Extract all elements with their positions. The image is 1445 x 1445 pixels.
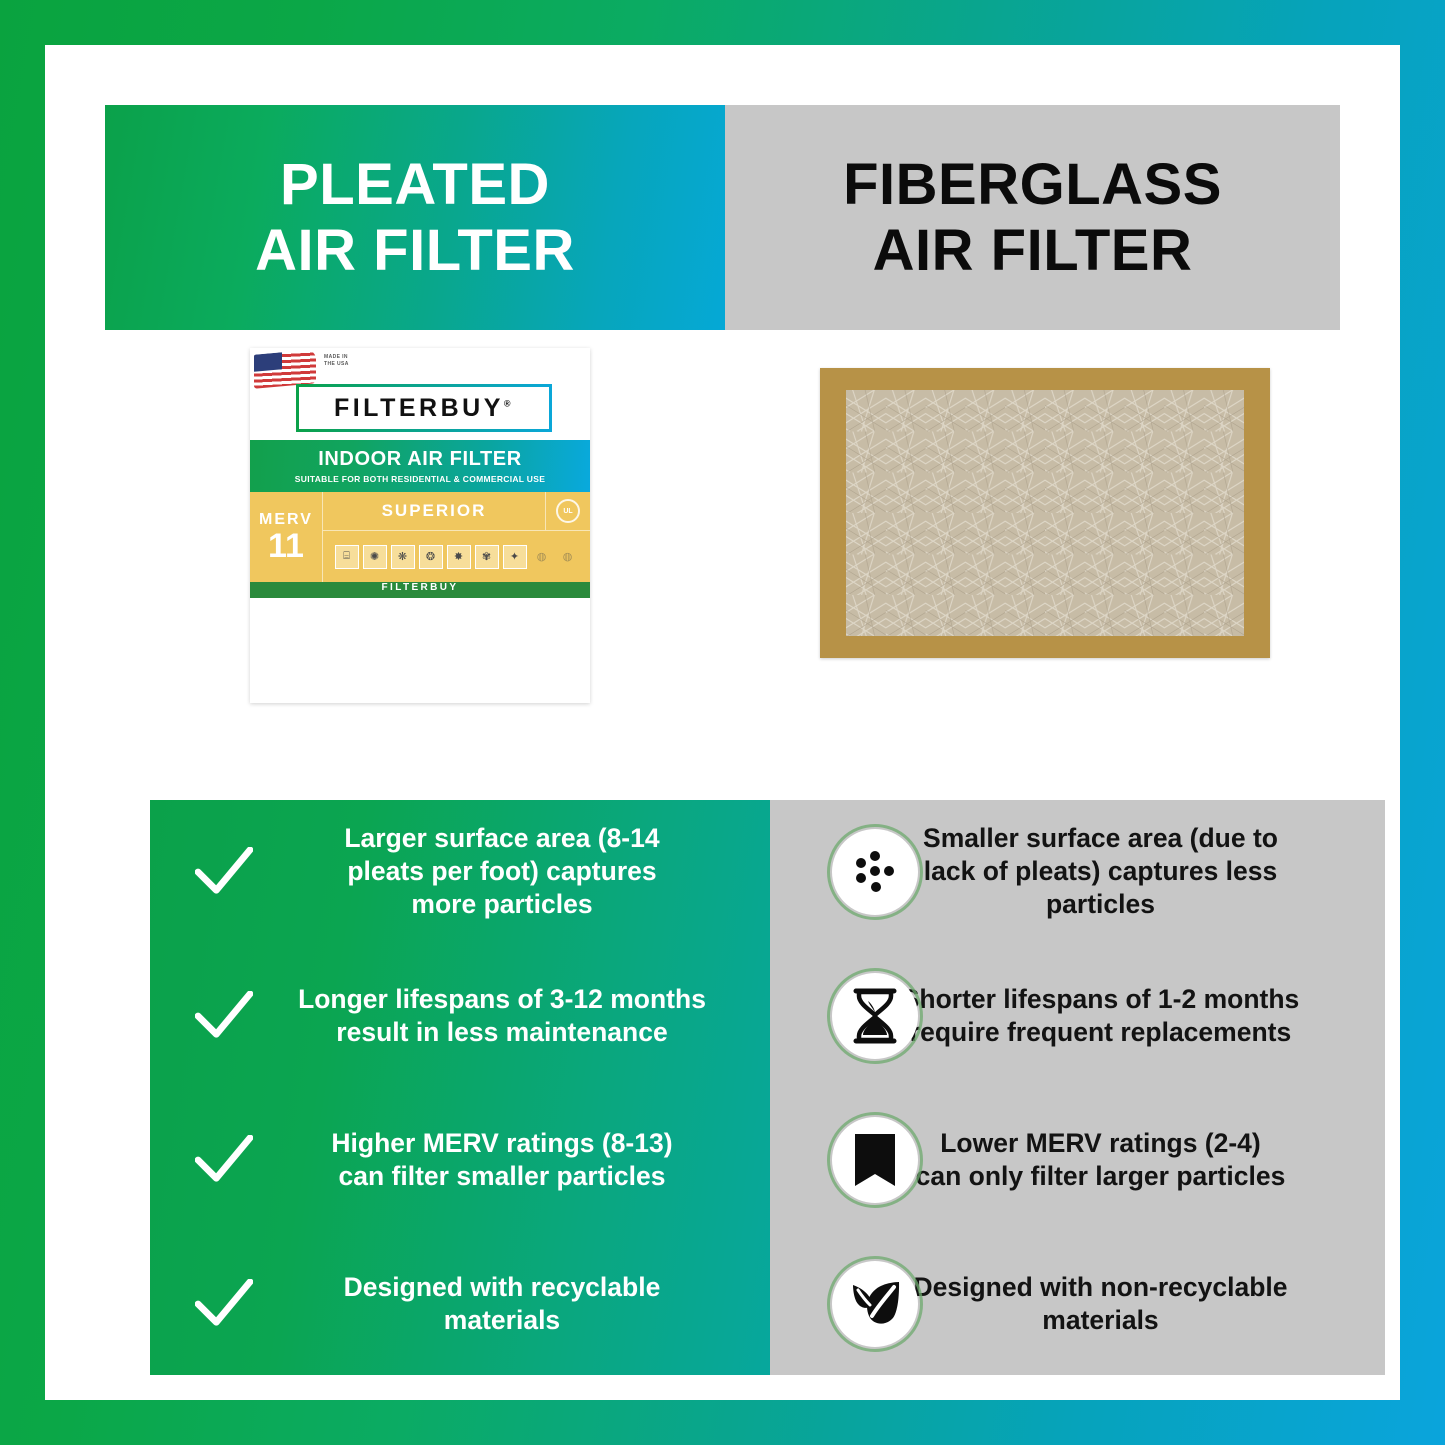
check-icon <box>188 847 260 897</box>
check-icon <box>188 991 260 1041</box>
merv-block: MERV 11 <box>250 492 323 582</box>
feature-icon-strip: ⌸ ✺ ❋ ❂ ✸ ✾ ✦ ◍ ◍ <box>323 531 590 582</box>
brand-registered-mark: ® <box>504 398 514 408</box>
fiberglass-product-cell <box>725 330 1340 750</box>
row-right-text-3: Lower MERV ratings (2-4) can only filter… <box>856 1127 1345 1193</box>
box-pleat-window: FILTERBUY <box>250 582 590 598</box>
box-spec-band: MERV 11 SUPERIOR UL ⌸ <box>250 492 590 582</box>
check-icon <box>188 1279 260 1329</box>
mold-icon: ❂ <box>419 545 443 569</box>
table-row: Larger surface area (8-14 pleats per foo… <box>150 800 1385 943</box>
row-left-text-2: Longer lifespans of 3-12 months result i… <box>260 983 752 1049</box>
table-row: Designed with recyclable materials Desig… <box>150 1232 1385 1375</box>
ghost-icon-1: ◍ <box>531 546 553 568</box>
table-row: Longer lifespans of 3-12 months result i… <box>150 944 1385 1087</box>
header-band: PLEATED AIR FILTER FIBERGLASS AIR FILTER <box>105 105 1340 330</box>
pollen-icon: ✺ <box>363 545 387 569</box>
header-fiberglass-title: FIBERGLASS AIR FILTER <box>843 152 1222 283</box>
smoke-icon: ✸ <box>447 545 471 569</box>
product-image-section: MADE IN THE USA FILTERBUY® INDOOR AIR FI… <box>105 330 1340 750</box>
fiberglass-filter-image <box>820 368 1270 658</box>
pleated-product-cell: MADE IN THE USA FILTERBUY® INDOOR AIR FI… <box>105 330 725 750</box>
leaf-icon <box>827 1256 923 1352</box>
row-left-4: Designed with recyclable materials <box>150 1232 770 1375</box>
row-right-text-2: Shorter lifespans of 1-2 months require … <box>856 983 1345 1049</box>
filterbuy-logo-text: FILTERBUY® <box>334 394 514 423</box>
brand-word: FILTERBUY <box>334 394 504 422</box>
made-in-usa-label: MADE IN THE USA <box>324 354 349 368</box>
header-pleated: PLEATED AIR FILTER <box>105 105 725 330</box>
dust-icon: ⌸ <box>335 545 359 569</box>
box-spec-right: SUPERIOR UL ⌸ ✺ ❋ ❂ ✸ <box>323 492 590 582</box>
bookmark-icon <box>827 1112 923 1208</box>
filterbuy-logo-frame: FILTERBUY® <box>296 384 552 432</box>
table-row: Higher MERV ratings (8-13) can filter sm… <box>150 1088 1385 1231</box>
box-footer-brand: FILTERBUY <box>382 582 459 598</box>
infographic-card: PLEATED AIR FILTER FIBERGLASS AIR FILTER… <box>45 45 1400 1400</box>
header-pleated-title: PLEATED AIR FILTER <box>255 152 575 283</box>
filterbuy-box-image: MADE IN THE USA FILTERBUY® INDOOR AIR FI… <box>250 348 590 703</box>
us-flag-icon <box>254 349 316 388</box>
ghost-icon-2: ◍ <box>557 546 579 568</box>
ul-mark-icon: UL <box>556 499 580 523</box>
fiberglass-media <box>846 390 1244 636</box>
outer-gradient-frame: PLEATED AIR FILTER FIBERGLASS AIR FILTER… <box>0 0 1445 1445</box>
bacteria-icon: ❋ <box>391 545 415 569</box>
tier-row: SUPERIOR UL <box>323 492 590 531</box>
allergen-icon: ✦ <box>503 545 527 569</box>
row-left-text-4: Designed with recyclable materials <box>260 1271 752 1337</box>
row-left-3: Higher MERV ratings (8-13) can filter sm… <box>150 1088 770 1231</box>
tier-label: SUPERIOR <box>323 501 545 521</box>
box-indoor-band: INDOOR AIR FILTER SUITABLE FOR BOTH RESI… <box>250 440 590 492</box>
hourglass-icon <box>827 968 923 1064</box>
check-icon <box>188 1135 260 1185</box>
row-left-text-1: Larger surface area (8-14 pleats per foo… <box>260 822 752 921</box>
row-right-text-4: Designed with non-recyclable materials <box>856 1271 1345 1337</box>
box-band-subtitle: SUITABLE FOR BOTH RESIDENTIAL & COMMERCI… <box>295 474 545 484</box>
row-left-1: Larger surface area (8-14 pleats per foo… <box>150 800 770 943</box>
pet-dander-icon: ✾ <box>475 545 499 569</box>
box-band-title: INDOOR AIR FILTER <box>318 448 522 471</box>
row-left-text-3: Higher MERV ratings (8-13) can filter sm… <box>260 1127 752 1193</box>
row-right-text-1: Smaller surface area (due to lack of ple… <box>856 822 1345 921</box>
particles-icon <box>827 824 923 920</box>
box-top-area: MADE IN THE USA FILTERBUY® <box>250 348 590 440</box>
row-left-2: Longer lifespans of 3-12 months result i… <box>150 944 770 1087</box>
ul-listed-block: UL <box>545 492 590 530</box>
comparison-rows: Larger surface area (8-14 pleats per foo… <box>150 800 1385 1375</box>
header-fiberglass: FIBERGLASS AIR FILTER <box>725 105 1340 330</box>
merv-value: 11 <box>268 529 304 563</box>
